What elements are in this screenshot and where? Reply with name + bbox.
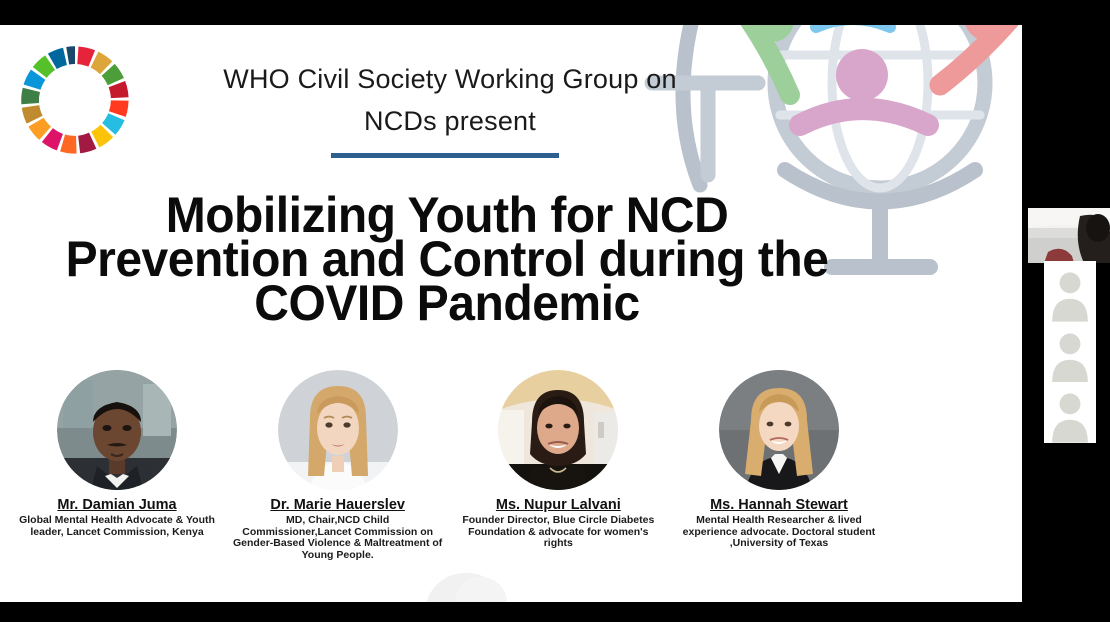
- speaker-name: Ms. Nupur Lalvani: [449, 497, 667, 514]
- portrait-damian-juma: [57, 370, 177, 490]
- speaker-name: Dr. Marie Hauerslev: [229, 497, 447, 514]
- slide-main-title: Mobilizing Youth for NCD Prevention and …: [39, 193, 855, 325]
- speaker-card: Dr. Marie Hauerslev MD, Chair,NCD Child …: [229, 370, 447, 561]
- speaker-role: Founder Director, Blue Circle Diabetes F…: [449, 515, 667, 550]
- speaker-card: Mr. Damian Juma Global Mental Health Adv…: [8, 370, 226, 538]
- participant-avatar-placeholder-1[interactable]: [1044, 261, 1096, 322]
- speaker-card: Ms. Nupur Lalvani Founder Director, Blue…: [449, 370, 667, 550]
- portrait-hannah-stewart: [719, 370, 839, 490]
- self-view-video-thumbnail[interactable]: [1028, 208, 1110, 263]
- speaker-role: Global Mental Health Advocate & Youth le…: [8, 515, 226, 538]
- speaker-name: Ms. Hannah Stewart: [670, 497, 888, 514]
- portrait-marie-hauerslev: [278, 370, 398, 490]
- portrait-nupur-lalvani: [498, 370, 618, 490]
- speaker-name: Mr. Damian Juma: [8, 497, 226, 514]
- speakers-row: Mr. Damian Juma Global Mental Health Adv…: [8, 370, 888, 561]
- speaker-role: Mental Health Researcher & lived experie…: [670, 515, 888, 550]
- meeting-window: WHO Civil Society Working Group on NCDs …: [0, 0, 1110, 622]
- participant-avatar-placeholder-2[interactable]: [1044, 322, 1096, 383]
- participant-avatar-placeholder-3[interactable]: [1044, 382, 1096, 443]
- background-blob-shape-inner: [455, 577, 507, 602]
- participant-video-rail[interactable]: [1022, 25, 1110, 602]
- header-divider-rule: [331, 153, 559, 158]
- speaker-role: MD, Chair,NCD Child Commissioner,Lancet …: [229, 515, 447, 561]
- speaker-card: Ms. Hannah Stewart Mental Health Researc…: [670, 370, 888, 550]
- background-blob-shape: [425, 573, 507, 602]
- sdg-color-wheel-logo: [16, 41, 134, 159]
- participant-avatar-strip[interactable]: [1044, 261, 1096, 443]
- slide-header-title: WHO Civil Society Working Group on NCDs …: [215, 58, 685, 142]
- shared-slide[interactable]: WHO Civil Society Working Group on NCDs …: [0, 25, 1022, 602]
